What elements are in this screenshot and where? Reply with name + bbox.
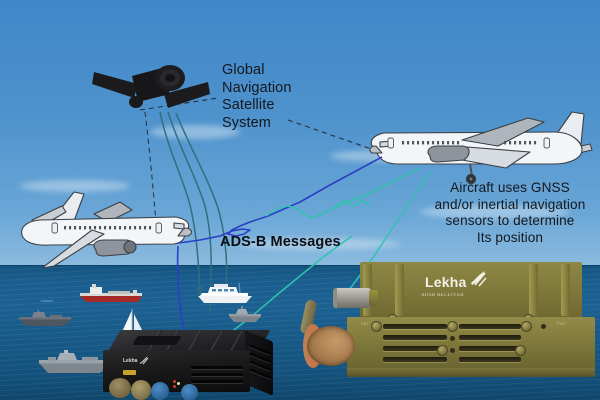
aircraft-note-line: and/or inertial navigation bbox=[422, 197, 598, 214]
vent-slot bbox=[191, 380, 243, 383]
vent-slot bbox=[383, 324, 447, 329]
diagram-canvas: Global Navigation Satellite System bbox=[0, 0, 600, 400]
vent-slot bbox=[459, 346, 521, 351]
indicator-dot bbox=[541, 324, 546, 329]
status-led-amber bbox=[177, 382, 180, 385]
aircraft-gnss-note: Aircraft uses GNSS and/or inertial navig… bbox=[422, 180, 598, 246]
panel-screw bbox=[521, 321, 532, 332]
adsb-messages-label: ADS-B Messages bbox=[220, 234, 341, 252]
circular-connector[interactable] bbox=[109, 378, 131, 398]
panel-screw bbox=[447, 321, 458, 332]
black-receiver-device[interactable]: Lekha bbox=[95, 330, 273, 400]
heatsink-fin bbox=[561, 264, 570, 316]
vent-slot bbox=[383, 357, 447, 362]
aircraft-note-line: Its position bbox=[422, 230, 598, 247]
cargo-ship-red bbox=[78, 284, 144, 304]
vent-slot bbox=[459, 357, 521, 362]
olive-adsb-receiver-device[interactable]: Lekha ADSB RECEIVER ANT PWR bbox=[333, 262, 600, 384]
circular-connector[interactable] bbox=[131, 380, 151, 400]
copper-connector[interactable] bbox=[307, 326, 355, 366]
aircraft-note-line: Aircraft uses GNSS bbox=[422, 180, 598, 197]
vent-slot bbox=[459, 324, 521, 329]
blue-connector[interactable] bbox=[151, 382, 169, 400]
device-subtitle-label: ADSB RECEIVER bbox=[421, 293, 464, 298]
patrol-boat-grey bbox=[228, 306, 262, 324]
port-label-left: ANT bbox=[361, 322, 369, 326]
brand-swoosh-icon bbox=[469, 270, 487, 287]
panel-screw bbox=[371, 321, 382, 332]
indicator-dot bbox=[450, 348, 455, 353]
device-label-plate bbox=[132, 336, 181, 345]
vent-slot bbox=[459, 335, 521, 340]
port-label-right: PWR bbox=[557, 322, 566, 326]
brand-swoosh-icon bbox=[139, 356, 149, 365]
status-led-red bbox=[173, 380, 176, 383]
heatsink-fin bbox=[529, 264, 538, 316]
vent-slot bbox=[383, 335, 447, 340]
aircraft-note-line: sensors to determine bbox=[422, 213, 598, 230]
panel-screw bbox=[515, 345, 526, 356]
heatsink-fin bbox=[395, 264, 404, 316]
status-led-red bbox=[173, 385, 176, 388]
vent-slot bbox=[191, 373, 243, 376]
device-base-flange bbox=[347, 368, 595, 377]
panel-screw bbox=[437, 345, 448, 356]
device-brand-label: Lekha bbox=[425, 274, 466, 290]
warning-sticker bbox=[123, 370, 136, 375]
indicator-dot bbox=[450, 336, 455, 341]
antenna-connector[interactable] bbox=[333, 288, 371, 308]
device-brand-label: Lekha bbox=[123, 358, 137, 364]
blue-connector[interactable] bbox=[181, 384, 198, 400]
naval-frigate-grey-small bbox=[18, 310, 72, 328]
vent-slot bbox=[191, 366, 243, 369]
motor-yacht-white bbox=[196, 283, 254, 305]
